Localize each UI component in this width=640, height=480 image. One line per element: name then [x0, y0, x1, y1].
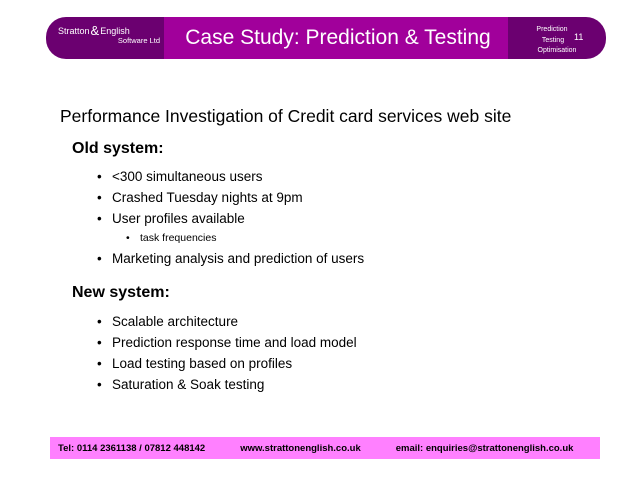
new-system-bullet-list: Scalable architecture Prediction respons…: [96, 311, 357, 395]
logo-ampersand: &: [90, 23, 101, 38]
logo-subtitle: Software Ltd: [58, 37, 166, 45]
footer-telephone: Tel: 0114 2361138 / 07812 448142: [50, 443, 205, 454]
footer-email[interactable]: email: enquiries@strattonenglish.co.uk: [361, 443, 574, 454]
slide-header-banner: Stratton&English Software Ltd Case Study…: [46, 17, 606, 59]
contact-footer-bar: Tel: 0114 2361138 / 07812 448142 www.str…: [50, 437, 600, 459]
company-logo: Stratton&English Software Ltd: [58, 24, 166, 45]
slide-title: Case Study: Prediction & Testing: [164, 17, 512, 59]
section-title-new-system: New system:: [72, 284, 170, 302]
list-item: Saturation & Soak testing: [96, 374, 357, 395]
logo-word-stratton: Stratton: [58, 26, 90, 36]
list-item: Scalable architecture: [96, 311, 357, 332]
list-item: User profiles available: [96, 208, 364, 229]
list-item-sub: task frequencies: [96, 229, 364, 248]
logo-word-english: English: [100, 26, 130, 36]
old-system-bullet-list: <300 simultaneous users Crashed Tuesday …: [96, 166, 364, 269]
page-title: Performance Investigation of Credit card…: [60, 106, 511, 127]
list-item: Marketing analysis and prediction of use…: [96, 248, 364, 269]
section-title-old-system: Old system:: [72, 140, 164, 158]
slide-number: 11: [574, 32, 583, 42]
list-item: <300 simultaneous users: [96, 166, 364, 187]
list-item: Crashed Tuesday nights at 9pm: [96, 187, 364, 208]
tagline-optimisation: Optimisation: [516, 46, 588, 57]
list-item: Load testing based on profiles: [96, 353, 357, 374]
footer-website[interactable]: www.strattonenglish.co.uk: [205, 443, 361, 454]
list-item: Prediction response time and load model: [96, 332, 357, 353]
